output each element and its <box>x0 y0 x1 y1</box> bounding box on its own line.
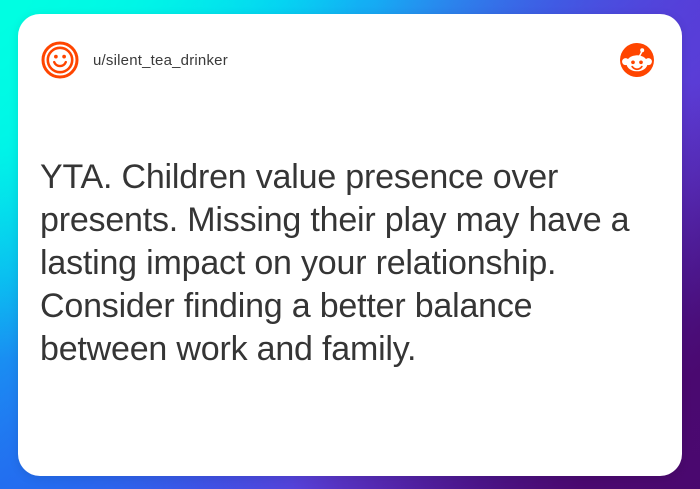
post-body-text: YTA. Children value presence over presen… <box>40 156 656 371</box>
author-username: u/silent_tea_drinker <box>93 52 228 69</box>
post-header: u/silent_tea_drinker <box>18 14 682 106</box>
author-block[interactable]: u/silent_tea_drinker <box>40 40 228 80</box>
reddit-snoo-icon[interactable] <box>620 43 654 77</box>
gradient-background: u/silent_tea_drinker <box>0 0 700 489</box>
reddit-post-card: u/silent_tea_drinker <box>18 14 682 476</box>
smiley-face-icon <box>40 40 80 80</box>
